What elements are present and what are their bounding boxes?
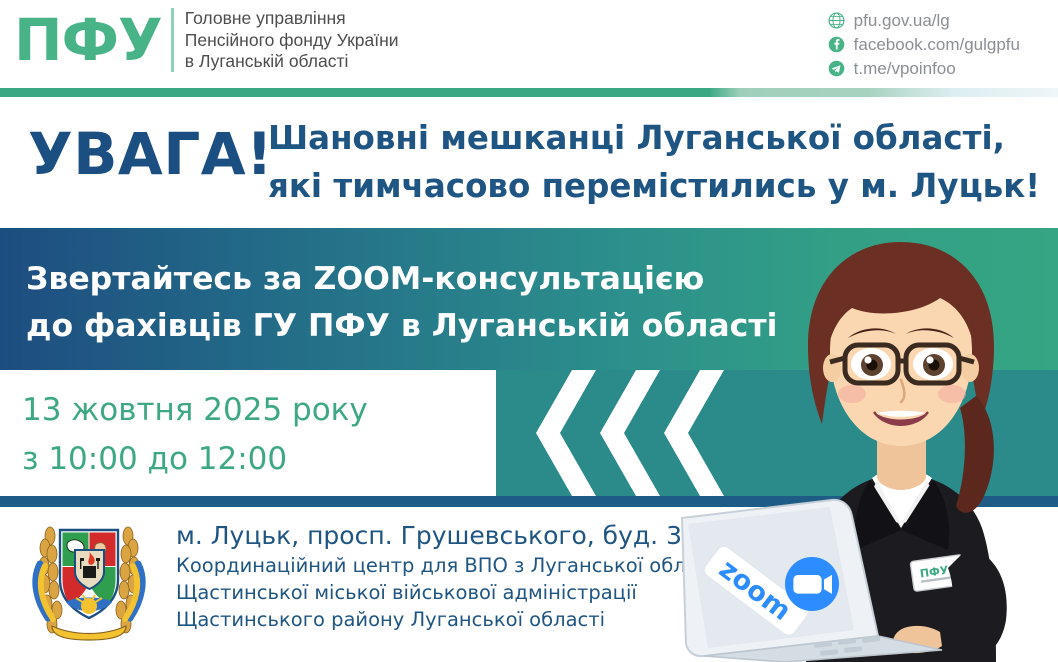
- attention-section: УВАГА! Шановні мешканці Луганської облас…: [0, 97, 1058, 228]
- laptop-illustration: zoom: [664, 496, 954, 662]
- telegram-icon: [828, 60, 845, 77]
- pfu-logo-group: ПФУ Головне управління Пенсійного фонду …: [14, 8, 399, 73]
- attention-message-line-1: Шановні мешканці Луганської області,: [268, 114, 1040, 162]
- website-url: pfu.gov.ua/lg: [854, 11, 950, 31]
- contact-telegram[interactable]: t.me/vpoinfoo: [828, 57, 1020, 80]
- address-street: м. Луцьк, просп. Грушевського, буд. 30: [176, 520, 725, 552]
- schedule-text: 13 жовтня 2025 року з 10:00 до 12:00: [22, 386, 368, 484]
- zoom-consultation-text: Звертайтесь за ZOOM-консультацією до фах…: [26, 256, 777, 350]
- organization-line-3: в Луганській області: [185, 51, 399, 73]
- contact-links: pfu.gov.ua/lg facebook.com/gulgpfu t.me/…: [828, 9, 1020, 81]
- address-org-line-2: Щастинської міської військової адміністр…: [176, 579, 725, 606]
- telegram-url: t.me/vpoinfoo: [854, 59, 956, 79]
- contact-website[interactable]: pfu.gov.ua/lg: [828, 9, 1020, 32]
- organization-line-1: Головне управління: [185, 8, 399, 30]
- address-block: м. Луцьк, просп. Грушевського, буд. 30 К…: [176, 520, 725, 633]
- attention-word: УВАГА!: [28, 120, 273, 188]
- address-org-line-1: Координаційний центр для ВПО з Лугансько…: [176, 552, 725, 579]
- globe-icon: [828, 12, 845, 29]
- facebook-icon: [828, 36, 845, 53]
- address-org-line-3: Щастинського району Луганської області: [176, 606, 725, 633]
- logo-divider: [171, 8, 174, 72]
- zoom-consultation-line-1: Звертайтесь за ZOOM-консультацією: [26, 256, 777, 303]
- schedule-date: 13 жовтня 2025 року: [22, 386, 368, 435]
- organization-line-2: Пенсійного фонду України: [185, 30, 399, 52]
- schedule-time: з 10:00 до 12:00: [22, 435, 368, 484]
- zoom-consultation-line-2: до фахівців ГУ ПФУ в Луганській області: [26, 303, 777, 350]
- attention-message: Шановні мешканці Луганської області, які…: [268, 114, 1040, 210]
- attention-message-line-2: які тимчасово перемістились у м. Луцьк!: [268, 162, 1040, 210]
- facebook-url: facebook.com/gulgpfu: [854, 35, 1020, 55]
- zoom-camera-icon: [785, 557, 839, 611]
- contact-facebook[interactable]: facebook.com/gulgpfu: [828, 33, 1020, 56]
- organization-name: Головне управління Пенсійного фонду Укра…: [185, 8, 399, 73]
- announcement-banner: ПФУ Головне управління Пенсійного фонду …: [0, 0, 1058, 662]
- banner-header: ПФУ Головне управління Пенсійного фонду …: [0, 0, 1058, 88]
- chevron-left-icon-2: [600, 370, 660, 496]
- pfu-logo-mark: ПФУ: [14, 9, 162, 71]
- coat-of-arms-icon: [26, 514, 152, 652]
- chevron-left-icon-3: [664, 370, 724, 496]
- chevron-left-icon-1: [536, 370, 596, 496]
- header-divider-rule: [0, 88, 1058, 97]
